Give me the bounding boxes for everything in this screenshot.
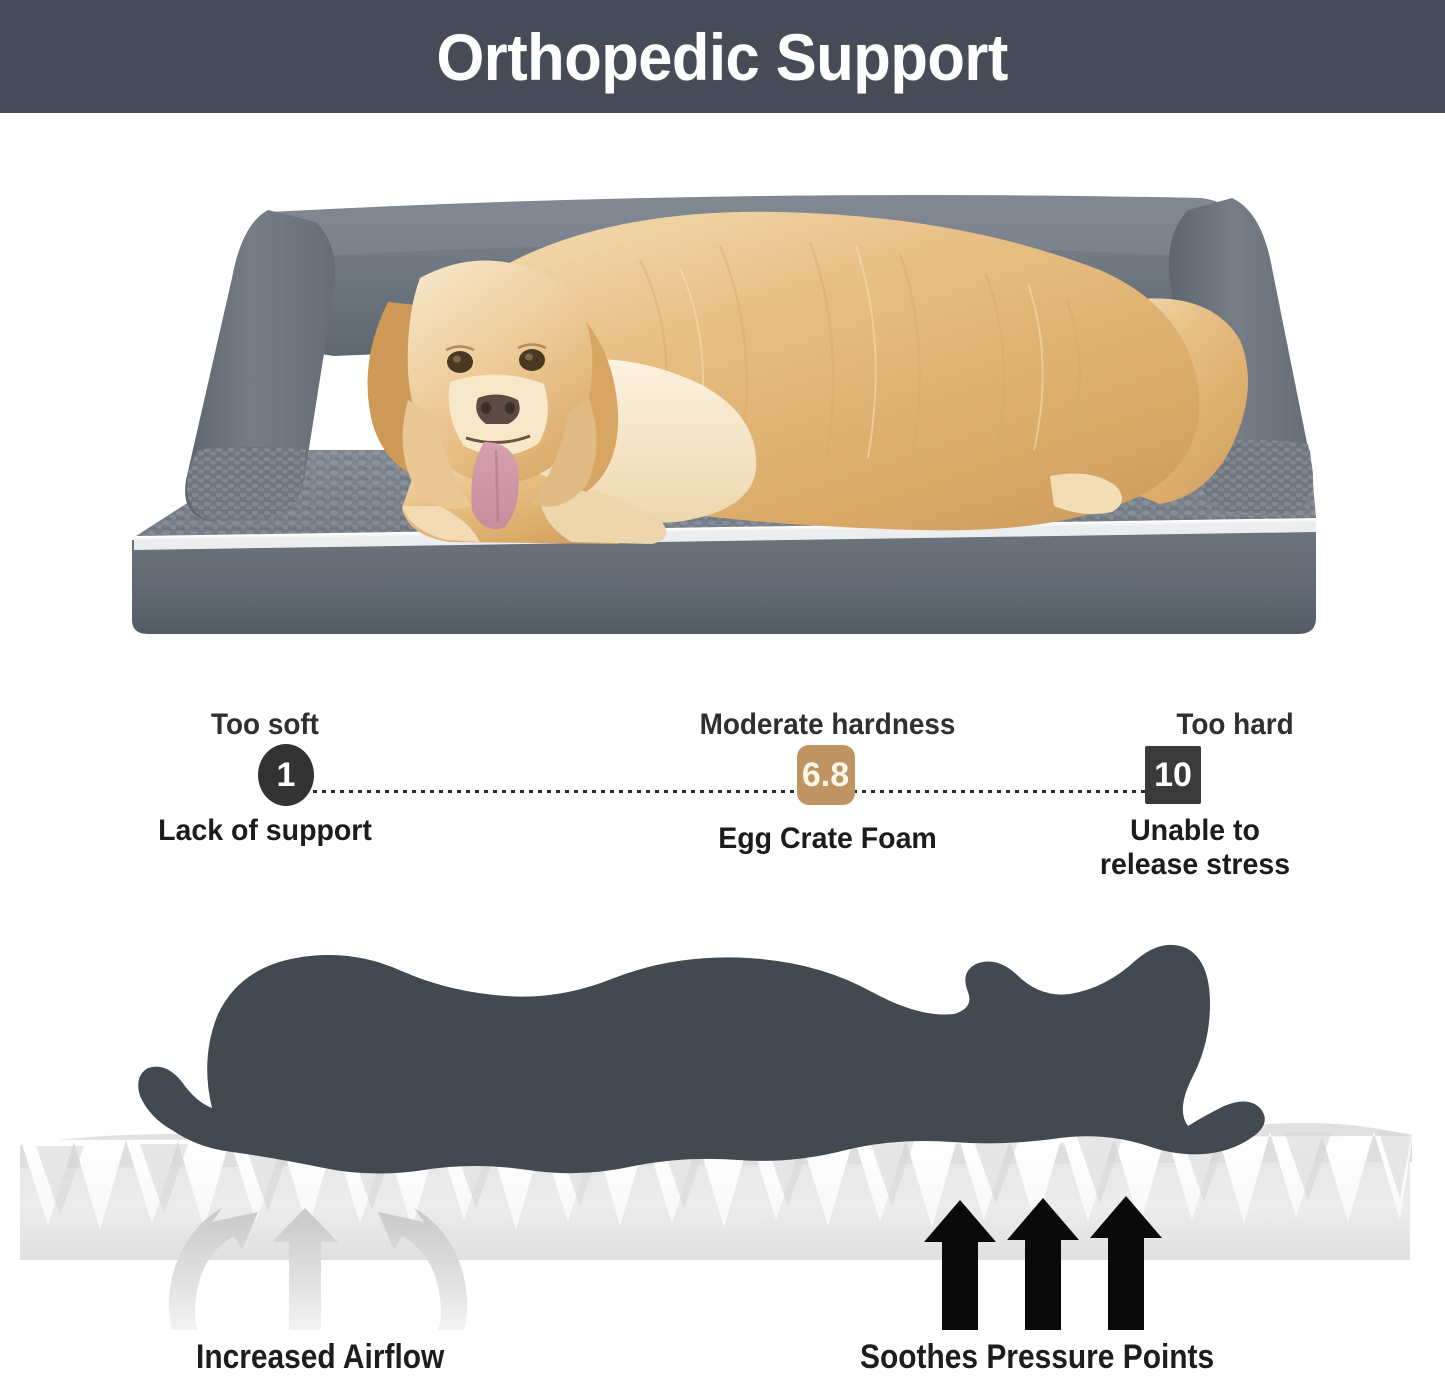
marker-top-label: Too soft <box>130 708 400 742</box>
marker-bottom-label: Unable to release stress <box>1057 814 1333 881</box>
diagram-svg <box>0 930 1445 1330</box>
marker-badge-row: 10 <box>1090 742 1380 808</box>
hardness-value-badge-68: 6.8 <box>797 745 855 805</box>
airflow-arrows <box>169 1208 467 1330</box>
marker-top-label: Too hard <box>1100 708 1370 742</box>
scale-marker-moderate: Moderate hardness 6.8 Egg Crate Foam <box>640 708 1015 856</box>
marker-bottom-label-line2: release stress <box>1057 848 1333 882</box>
marker-top-label: Moderate hardness <box>653 708 1002 742</box>
pressure-arrows <box>924 1196 1162 1330</box>
marker-bottom-label: Lack of support <box>127 814 403 848</box>
caption-increased-airflow: Increased Airflow <box>196 1338 444 1377</box>
foam-cross-section-diagram <box>0 930 1445 1330</box>
hardness-value-badge-10: 10 <box>1145 746 1201 804</box>
hardness-scale: Too soft 1 Lack of support Moderate hard… <box>0 700 1445 900</box>
marker-badge-row: 1 <box>120 742 410 808</box>
page-title: Orthopedic Support <box>437 19 1008 95</box>
product-photo <box>120 150 1330 660</box>
scale-marker-too-hard: Too hard 10 Unable to release stress <box>1090 708 1380 881</box>
header-banner: Orthopedic Support <box>0 0 1445 113</box>
dog-bed-illustration <box>120 150 1330 660</box>
hardness-value-badge-1: 1 <box>258 744 314 806</box>
scale-marker-too-soft: Too soft 1 Lack of support <box>120 708 410 848</box>
marker-bottom-label: Egg Crate Foam <box>649 822 1005 856</box>
marker-badge-row: 6.8 <box>640 742 1015 808</box>
caption-soothes-pressure-points: Soothes Pressure Points <box>860 1338 1214 1377</box>
marker-bottom-label-line1: Unable to <box>1057 814 1333 848</box>
